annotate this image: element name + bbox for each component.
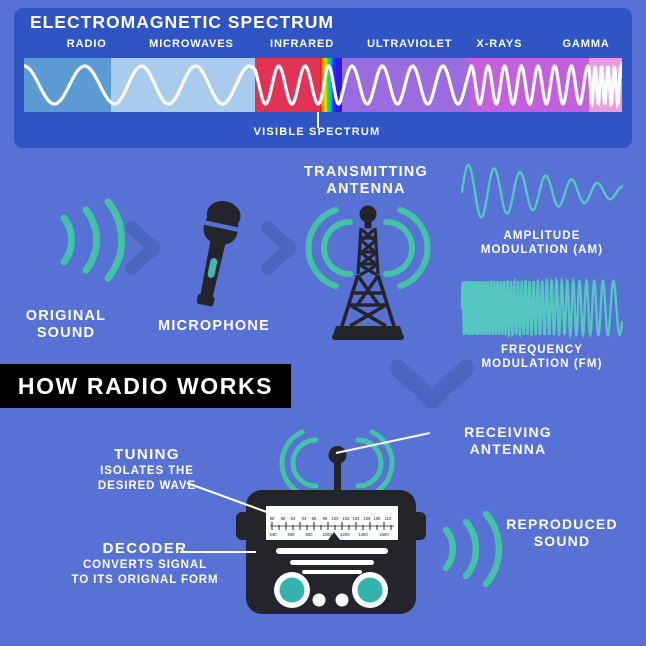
band-label-xrays: X-RAYS — [476, 38, 522, 50]
flow-chevron-2 — [258, 220, 304, 276]
spectrum-panel-title: ELECTROMAGNETIC SPECTRUM — [30, 12, 334, 33]
band-label-ultraviolet: ULTRAVIOLET — [367, 38, 452, 50]
svg-text:104: 104 — [353, 516, 361, 521]
band-label-infrared: INFRARED — [270, 38, 334, 50]
label-microphone: MICROPHONE — [140, 318, 288, 335]
callout-decoder-sub: CONVERTS SIGNAL TO ITS ORIGNAL FORM — [52, 558, 238, 587]
microphone-icon — [178, 196, 250, 318]
radio-receiver-icon: 8892 96100 104108 9094 98102 106110 5406… — [236, 480, 426, 618]
how-radio-works-banner: HOW RADIO WORKS — [0, 364, 291, 408]
svg-text:110: 110 — [385, 516, 392, 521]
band-radio — [24, 58, 111, 112]
svg-text:106: 106 — [364, 516, 372, 521]
label-reproduced-sound: REPRODUCED SOUND — [486, 516, 638, 549]
amplitude-modulation-wave — [462, 160, 622, 224]
infographic-canvas: ELECTROMAGNETIC SPECTRUM RADIO MICROWAVE… — [0, 0, 646, 646]
label-amplitude-modulation: AMPLITUDE MODULATION (AM) — [462, 230, 622, 257]
radio-knob-left — [280, 578, 305, 603]
callout-tuning-sub: ISOLATES THE DESIRED WAVE — [56, 464, 238, 493]
radio-knob-right — [358, 578, 383, 603]
label-frequency-modulation: FREQUENCY MODULATION (FM) — [462, 344, 622, 371]
svg-text:1400: 1400 — [358, 532, 368, 537]
svg-text:94: 94 — [302, 516, 307, 521]
callout-tuning-heading: TUNING — [56, 446, 238, 464]
label-receiving-antenna: RECEIVING ANTENNA — [428, 424, 588, 457]
callout-tuning: TUNING ISOLATES THE DESIRED WAVE — [56, 446, 238, 493]
transmitting-antenna-icon — [306, 198, 430, 348]
label-transmitting-antenna: TRANSMITTING ANTENNA — [286, 164, 446, 198]
svg-text:540: 540 — [270, 532, 278, 537]
radio-button-1 — [313, 594, 326, 607]
svg-text:98: 98 — [323, 516, 328, 521]
band-label-microwaves: MICROWAVES — [149, 38, 234, 50]
band-label-radio: RADIO — [67, 38, 107, 50]
spectrum-gradient-bar — [24, 58, 622, 112]
svg-text:1600: 1600 — [379, 532, 389, 537]
flow-chevron-1 — [122, 220, 168, 276]
label-original-sound: ORIGINAL SOUND — [4, 308, 128, 342]
flow-chevron-down — [386, 356, 478, 420]
svg-text:92: 92 — [291, 516, 296, 521]
visible-spectrum-label: VISIBLE SPECTRUM — [0, 126, 646, 138]
svg-text:102: 102 — [343, 516, 351, 521]
svg-text:600: 600 — [288, 532, 296, 537]
banner-title: HOW RADIO WORKS — [0, 364, 291, 408]
radio-button-2 — [336, 594, 349, 607]
frequency-modulation-wave — [462, 276, 622, 340]
svg-text:1200: 1200 — [340, 532, 350, 537]
radio-speaker-slat-3 — [302, 570, 362, 574]
band-label-gamma: GAMMA — [562, 38, 609, 50]
radio-speaker-slat-1 — [276, 548, 388, 554]
svg-text:88: 88 — [270, 516, 275, 521]
original-sound-waves — [44, 190, 124, 290]
svg-text:1000: 1000 — [322, 532, 332, 537]
svg-text:96: 96 — [312, 516, 317, 521]
svg-text:108: 108 — [374, 516, 382, 521]
spectrum-band-labels: RADIO MICROWAVES INFRARED ULTRAVIOLET X-… — [24, 38, 622, 54]
callout-decoder-heading: DECODER — [52, 540, 238, 558]
decoder-leader-line — [180, 551, 256, 553]
callout-decoder: DECODER CONVERTS SIGNAL TO ITS ORIGNAL F… — [52, 540, 238, 587]
svg-text:800: 800 — [306, 532, 314, 537]
svg-text:90: 90 — [281, 516, 286, 521]
svg-text:100: 100 — [332, 516, 340, 521]
radio-speaker-slat-2 — [290, 560, 374, 565]
